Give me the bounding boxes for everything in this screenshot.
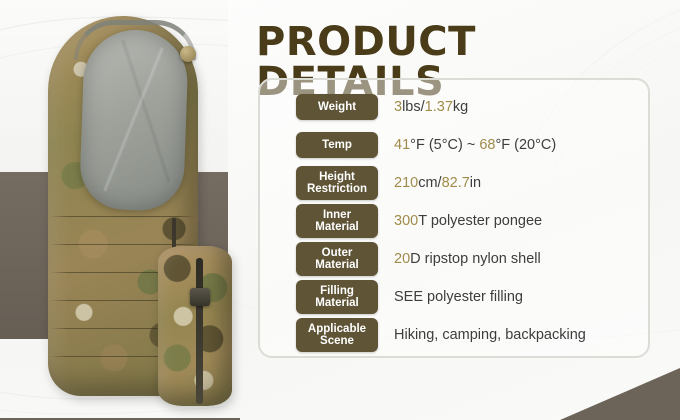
hood-cinch-toggle [180, 46, 196, 62]
spec-row: ApplicableSceneHiking, camping, backpack… [272, 316, 644, 354]
spec-label-line: Temp [322, 139, 352, 151]
spec-value: 3lbs/1.37kg [394, 99, 468, 115]
spec-label-pill: InnerMaterial [296, 204, 378, 238]
spec-value: 210cm/82.7in [394, 175, 481, 191]
spec-value: Hiking, camping, backpacking [394, 327, 586, 343]
spec-value-text: °F (5°C) ~ [410, 137, 479, 153]
spec-row: OuterMaterial20D ripstop nylon shell [272, 240, 644, 278]
spec-value-number: 20 [394, 251, 410, 267]
spec-value-text: T polyester pongee [418, 213, 542, 229]
specs-table: Weight3lbs/1.37kgTemp41°F (5°C) ~ 68°F (… [272, 88, 644, 354]
spec-row: Temp41°F (5°C) ~ 68°F (20°C) [272, 126, 644, 164]
spec-label-line: Weight [318, 101, 356, 113]
spec-label-pill: OuterMaterial [296, 242, 378, 276]
spec-label-line: Scene [308, 335, 366, 347]
spec-value-number: 210 [394, 175, 418, 191]
spec-label-line: Material [315, 221, 358, 233]
spec-label-pill: Temp [296, 132, 378, 158]
spec-value-text: cm/ [418, 175, 441, 191]
stuff-sack-buckle [190, 288, 210, 306]
product-image [30, 8, 235, 412]
spec-row: FillingMaterialSEE polyester filling [272, 278, 644, 316]
hood-edge [74, 20, 196, 60]
spec-value-text: °F (20°C) [495, 137, 556, 153]
product-details-banner: PRODUCT DETAILS Weight3lbs/1.37kgTemp41°… [0, 0, 680, 420]
spec-value: 41°F (5°C) ~ 68°F (20°C) [394, 137, 556, 153]
spec-value-number: 300 [394, 213, 418, 229]
spec-value: 300T polyester pongee [394, 213, 542, 229]
spec-label-line: Filling [315, 285, 358, 297]
spec-value-text: Hiking, camping, backpacking [394, 327, 586, 343]
stuff-sack [158, 246, 232, 406]
spec-label-pill: HeightRestriction [296, 166, 378, 200]
spec-label-pill: ApplicableScene [296, 318, 378, 352]
spec-label-line: Height [307, 171, 367, 183]
spec-value-number: 1.37 [425, 99, 453, 115]
spec-value-text: lbs/ [402, 99, 425, 115]
spec-value-text: D ripstop nylon shell [410, 251, 541, 267]
spec-row: Weight3lbs/1.37kg [272, 88, 644, 126]
spec-value-number: 68 [479, 137, 495, 153]
spec-label-line: Applicable [308, 323, 366, 335]
spec-value-number: 41 [394, 137, 410, 153]
spec-label-line: Material [315, 259, 358, 271]
spec-row: HeightRestriction210cm/82.7in [272, 164, 644, 202]
spec-label-pill: FillingMaterial [296, 280, 378, 314]
spec-value-text: SEE polyester filling [394, 289, 523, 305]
spec-label-line: Outer [315, 247, 358, 259]
spec-label-line: Material [315, 297, 358, 309]
spec-value-number: 82.7 [442, 175, 470, 191]
spec-value-number: 3 [394, 99, 402, 115]
spec-value-text: kg [453, 99, 468, 115]
baffle-line [50, 216, 196, 217]
spec-value: 20D ripstop nylon shell [394, 251, 541, 267]
spec-value-text: in [470, 175, 481, 191]
spec-value: SEE polyester filling [394, 289, 523, 305]
spec-label-pill: Weight [296, 94, 378, 120]
spec-label-line: Inner [315, 209, 358, 221]
spec-label-line: Restriction [307, 183, 367, 195]
spec-row: InnerMaterial300T polyester pongee [272, 202, 644, 240]
stuff-sack-strap [196, 258, 203, 404]
